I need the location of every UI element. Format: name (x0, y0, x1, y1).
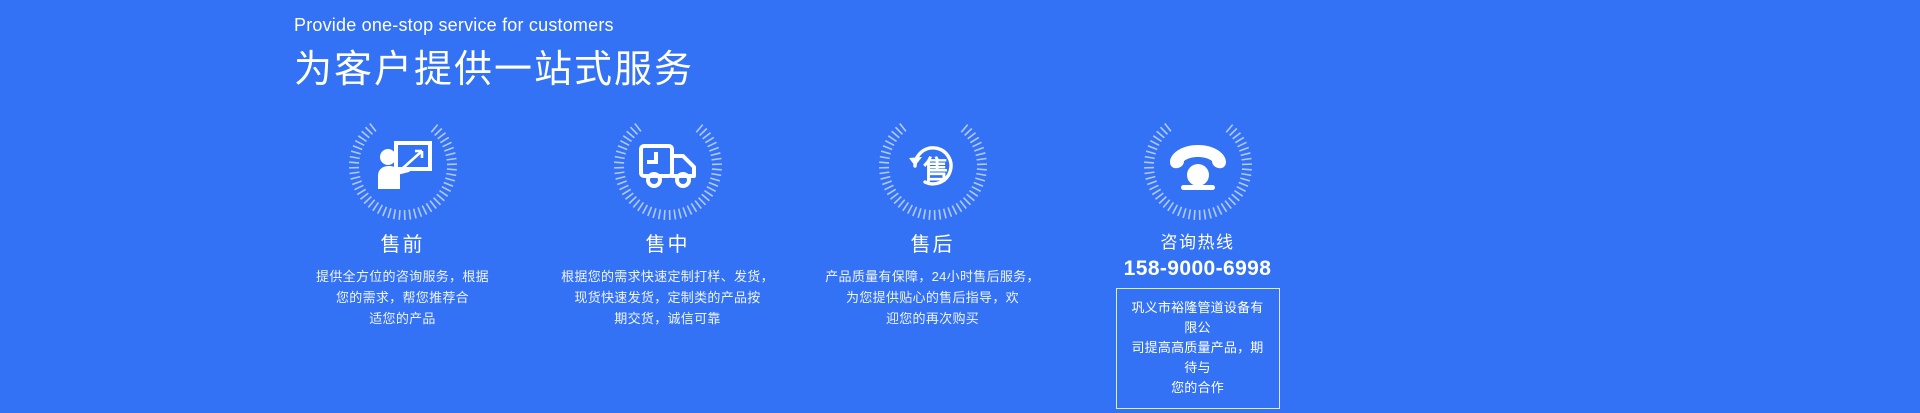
column-description: 提供全方位的咨询服务，根据 您的需求，帮您推荐合 适您的产品 (316, 266, 489, 329)
desc-line: 为您提供贴心的售后指导，欢 (825, 287, 1040, 308)
service-column-insale[interactable]: 售中 根据您的需求快速定制打样、发货， 现货快速发货，定制类的产品按 期交货，诚… (535, 110, 800, 329)
hotline-label: 咨询热线 (1161, 232, 1235, 255)
banner-heading: Provide one-stop service for customers 为… (294, 14, 1194, 95)
column-description: 根据您的需求快速定制打样、发货， 现货快速发货，定制类的产品按 期交货，诚信可靠 (561, 266, 774, 329)
desc-line: 产品质量有保障，24小时售后服务， (825, 266, 1040, 287)
company-info-line: 您的合作 (1129, 378, 1267, 398)
heading-title-cn: 为客户提供一站式服务 (294, 47, 1194, 95)
return-arrow-shou-icon: 售 (902, 135, 964, 197)
desc-line: 适您的产品 (316, 308, 489, 329)
desc-line: 提供全方位的咨询服务，根据 (316, 266, 489, 287)
company-info-box: 巩义市裕隆管道设备有限公 司提高高质量产品，期待与 您的合作 (1116, 288, 1280, 409)
presentation-person-icon (372, 135, 434, 197)
company-info-line: 司提高高质量产品，期待与 (1129, 338, 1267, 378)
desc-line: 您的需求，帮您推荐合 (316, 287, 489, 308)
service-column-hotline[interactable]: 咨询热线 158-9000-6998 巩义市裕隆管道设备有限公 司提高高质量产品… (1065, 110, 1330, 409)
desc-line: 期交货，诚信可靠 (561, 308, 774, 329)
desc-line: 迎您的再次购买 (825, 308, 1040, 329)
desc-line: 现货快速发货，定制类的产品按 (561, 287, 774, 308)
icon-wrapper-presale (347, 110, 459, 222)
icon-wrapper-hotline (1142, 110, 1254, 222)
desc-line: 根据您的需求快速定制打样、发货， (561, 266, 774, 287)
svg-text:售: 售 (922, 155, 948, 185)
icon-wrapper-aftersale: 售 (877, 110, 989, 222)
service-banner: Provide one-stop service for customers 为… (0, 0, 1920, 413)
telephone-icon (1167, 135, 1229, 197)
column-title: 售中 (646, 232, 690, 258)
delivery-truck-clock-icon (637, 135, 699, 197)
heading-subtitle-en: Provide one-stop service for customers (294, 14, 1194, 37)
column-description: 产品质量有保障，24小时售后服务， 为您提供贴心的售后指导，欢 迎您的再次购买 (825, 266, 1040, 329)
company-info-line: 巩义市裕隆管道设备有限公 (1129, 298, 1267, 338)
service-column-aftersale[interactable]: 售 售后 产品质量有保障，24小时售后服务， 为您提供贴心的售后指导，欢 迎您的… (800, 110, 1065, 329)
service-columns: 售前 提供全方位的咨询服务，根据 您的需求，帮您推荐合 适您的产品 (270, 110, 1450, 409)
column-title: 售前 (381, 232, 425, 258)
hotline-number[interactable]: 158-9000-6998 (1124, 256, 1272, 282)
icon-wrapper-insale (612, 110, 724, 222)
service-column-presale[interactable]: 售前 提供全方位的咨询服务，根据 您的需求，帮您推荐合 适您的产品 (270, 110, 535, 329)
column-title: 售后 (911, 232, 955, 258)
